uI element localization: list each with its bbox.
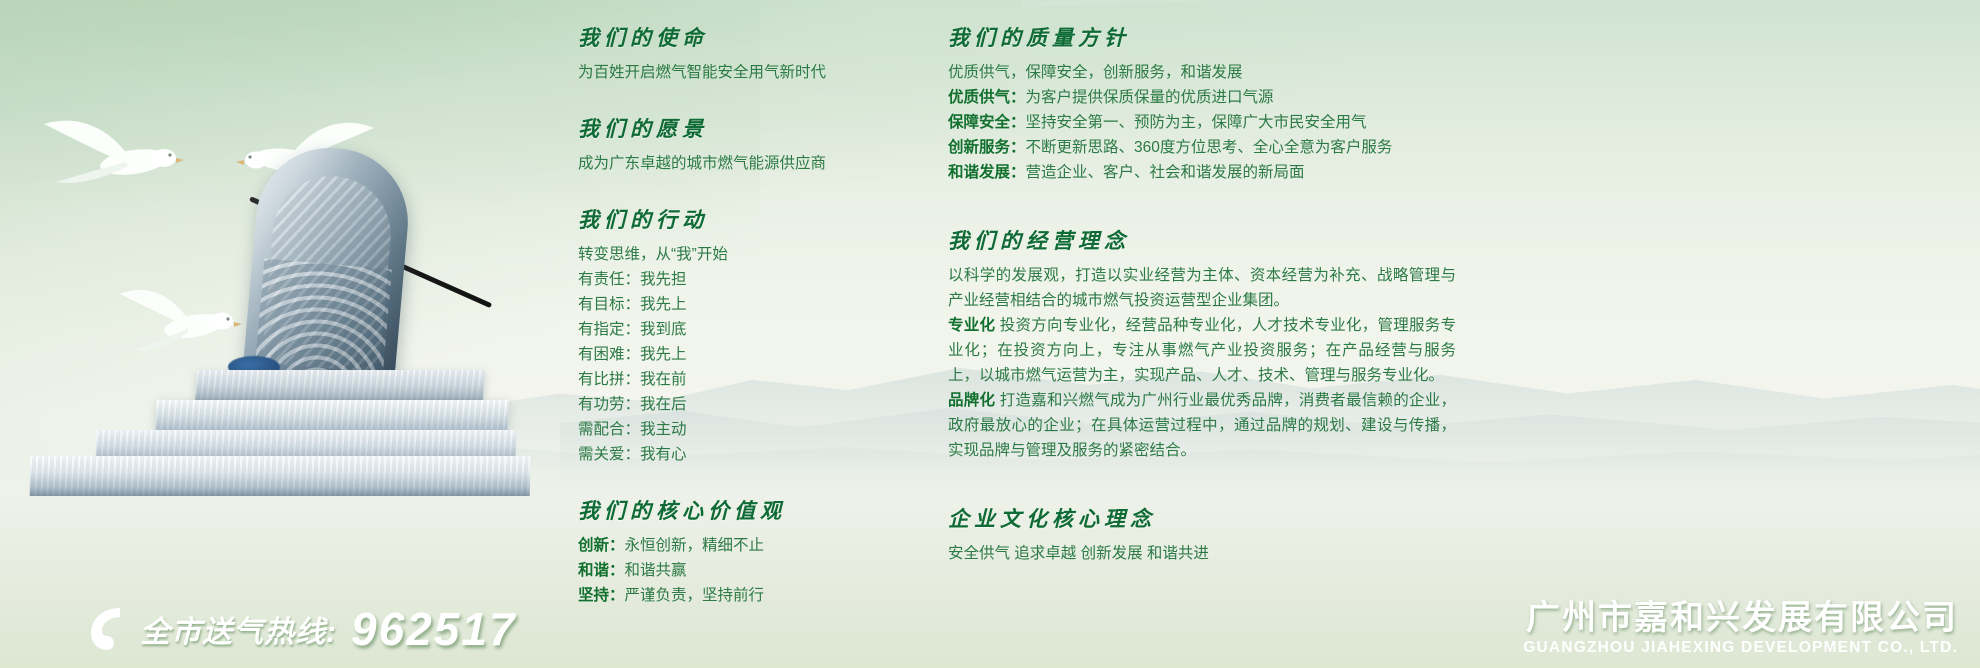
- section-action: 我们的行动 转变思维，从“我”开始 有责任：我先担 有目标：我先上 有指定：我到…: [578, 204, 908, 467]
- section-quality-policy: 我们的质量方针 优质供气，保障安全，创新服务，和谐发展 优质供气：为客户提供保质…: [948, 22, 1456, 185]
- dove-upper-mid-icon: [228, 110, 378, 190]
- core-values-title: 我们的核心价值观: [578, 495, 908, 525]
- sundial-gnomon-rod-icon: [249, 196, 492, 308]
- core-value-key: 创新: [578, 537, 609, 554]
- quality-policy-row: 创新服务：不断更新思路、360度方位思考、全心全意为客户服务: [948, 135, 1456, 160]
- core-value-row: 创新：永恒创新，精细不止: [578, 533, 908, 558]
- action-line-5: 有比拼：我在前: [578, 367, 908, 392]
- business-philosophy-title: 我们的经营理念: [948, 225, 1456, 255]
- quality-policy-sep: ：: [1010, 114, 1026, 131]
- stele-wave-carving: [255, 258, 392, 379]
- core-value-text: 和谐共赢: [625, 562, 687, 579]
- core-value-key: 和谐: [578, 562, 609, 579]
- core-value-sep: ：: [609, 587, 625, 604]
- core-value-key: 坚持: [578, 587, 609, 604]
- business-philosophy-intro: 以科学的发展观，打造以实业经营为主体、资本经营为补充、战略管理与产业经营相结合的…: [948, 263, 1456, 313]
- action-line-8: 需关爱：我有心: [578, 442, 908, 467]
- phone-handset-icon: [86, 605, 130, 653]
- hotline-block: 全市送气热线: 962517: [86, 602, 517, 656]
- quality-policy-sep: ：: [1010, 164, 1026, 181]
- quality-policy-text: 坚持安全第一、预防为主，保障广大市民安全用气: [1026, 114, 1367, 131]
- company-name-cn: 广州市嘉和兴发展有限公司: [1523, 598, 1958, 638]
- business-philosophy-item: 专业化 投资方向专业化，经营品种专业化，人才技术专业化，管理服务专业化；在投资方…: [948, 313, 1456, 388]
- core-value-row: 坚持：严谨负责，坚持前行: [578, 583, 908, 608]
- action-line-6: 有功劳：我在后: [578, 392, 908, 417]
- quality-policy-text: 营造企业、客户、社会和谐发展的新局面: [1026, 164, 1305, 181]
- business-philosophy-text: 投资方向专业化，经营品种专业化，人才技术专业化，管理服务专业化；在投资方向上，专…: [948, 317, 1456, 384]
- core-value-sep: ：: [609, 537, 625, 554]
- stele-texture: [261, 171, 395, 373]
- business-philosophy-text: 打造嘉和兴燃气成为广州行业最优秀品牌，消费者最信赖的企业，政府最放心的企业；在具…: [948, 392, 1456, 459]
- pedestal-tier-1: [195, 370, 485, 404]
- quality-policy-text: 为客户提供保质保量的优质进口气源: [1026, 89, 1274, 106]
- stele-blue-accent: [228, 356, 280, 378]
- vision-title: 我们的愿景: [578, 113, 908, 143]
- business-philosophy-key: 专业化: [948, 317, 995, 334]
- action-line-1: 有责任：我先担: [578, 267, 908, 292]
- quality-policy-key: 优质供气: [948, 89, 1010, 106]
- footer-swoosh-right: [1018, 0, 1980, 7]
- core-value-text: 永恒创新，精细不止: [625, 537, 765, 554]
- hotline-number: 962517: [351, 602, 517, 656]
- core-value-row: 和谐：和谐共赢: [578, 558, 908, 583]
- section-mission: 我们的使命 为百姓开启燃气智能安全用气新时代: [578, 22, 908, 85]
- quality-policy-title: 我们的质量方针: [948, 22, 1456, 52]
- culture-core-title: 企业文化核心理念: [948, 503, 1456, 533]
- pedestal-tier-2: [155, 400, 509, 438]
- business-philosophy-item: 品牌化 打造嘉和兴燃气成为广州行业最优秀品牌，消费者最信赖的企业，政府最放心的企…: [948, 388, 1456, 463]
- section-culture-core: 企业文化核心理念 安全供气 追求卓越 创新发展 和谐共进: [948, 503, 1456, 566]
- quality-policy-row: 优质供气：为客户提供保质保量的优质进口气源: [948, 85, 1456, 110]
- section-core-values: 我们的核心价值观 创新：永恒创新，精细不止 和谐：和谐共赢 坚持：严谨负责，坚持…: [578, 495, 908, 608]
- left-text-column: 我们的使命 为百姓开启燃气智能安全用气新时代 我们的愿景 成为广东卓越的城市燃气…: [578, 22, 908, 626]
- quality-policy-key: 创新服务: [948, 139, 1010, 156]
- business-philosophy-key: 品牌化: [948, 392, 995, 409]
- pedestal-tier-4: [30, 456, 531, 496]
- mission-title: 我们的使命: [578, 22, 908, 52]
- company-name-en: GUANGZHOU JIAHEXING DEVELOPMENT CO., LTD…: [1523, 638, 1958, 658]
- mission-line: 为百姓开启燃气智能安全用气新时代: [578, 60, 908, 85]
- action-line-2: 有目标：我先上: [578, 292, 908, 317]
- action-title: 我们的行动: [578, 204, 908, 234]
- culture-core-values: 安全供气 追求卓越 创新发展 和谐共进: [948, 541, 1456, 566]
- quality-policy-key: 保障安全: [948, 114, 1010, 131]
- vision-line: 成为广东卓越的城市燃气能源供应商: [578, 151, 908, 176]
- quality-policy-slogan: 优质供气，保障安全，创新服务，和谐发展: [948, 60, 1456, 85]
- company-identity: 广州市嘉和兴发展有限公司 GUANGZHOU JIAHEXING DEVELOP…: [1523, 598, 1958, 658]
- quality-policy-key: 和谐发展: [948, 164, 1010, 181]
- quality-policy-sep: ：: [1010, 139, 1026, 156]
- stone-stele: [242, 142, 414, 390]
- quality-policy-row: 保障安全：坚持安全第一、预防为主，保障广大市民安全用气: [948, 110, 1456, 135]
- corporate-culture-poster: 我们的使命 为百姓开启燃气智能安全用气新时代 我们的愿景 成为广东卓越的城市燃气…: [0, 0, 1980, 668]
- section-vision: 我们的愿景 成为广东卓越的城市燃气能源供应商: [578, 113, 908, 176]
- right-text-column: 我们的质量方针 优质供气，保障安全，创新服务，和谐发展 优质供气：为客户提供保质…: [948, 22, 1456, 584]
- action-line-4: 有困难：我先上: [578, 342, 908, 367]
- dove-upper-left-icon: [38, 108, 198, 194]
- dove-lower-left-icon: [118, 276, 258, 358]
- action-line-3: 有指定：我到底: [578, 317, 908, 342]
- core-value-text: 严谨负责，坚持前行: [625, 587, 765, 604]
- pedestal-tier-3: [95, 430, 516, 466]
- quality-policy-row: 和谐发展：营造企业、客户、社会和谐发展的新局面: [948, 160, 1456, 185]
- hotline-label: 全市送气热线:: [140, 607, 337, 651]
- quality-policy-sep: ：: [1010, 89, 1026, 106]
- action-line-7: 需配合：我主动: [578, 417, 908, 442]
- quality-policy-text: 不断更新思路、360度方位思考、全心全意为客户服务: [1026, 139, 1393, 156]
- action-line-0: 转变思维，从“我”开始: [578, 242, 908, 267]
- core-value-sep: ：: [609, 562, 625, 579]
- section-business-philosophy: 我们的经营理念 以科学的发展观，打造以实业经营为主体、资本经营为补充、战略管理与…: [948, 225, 1456, 463]
